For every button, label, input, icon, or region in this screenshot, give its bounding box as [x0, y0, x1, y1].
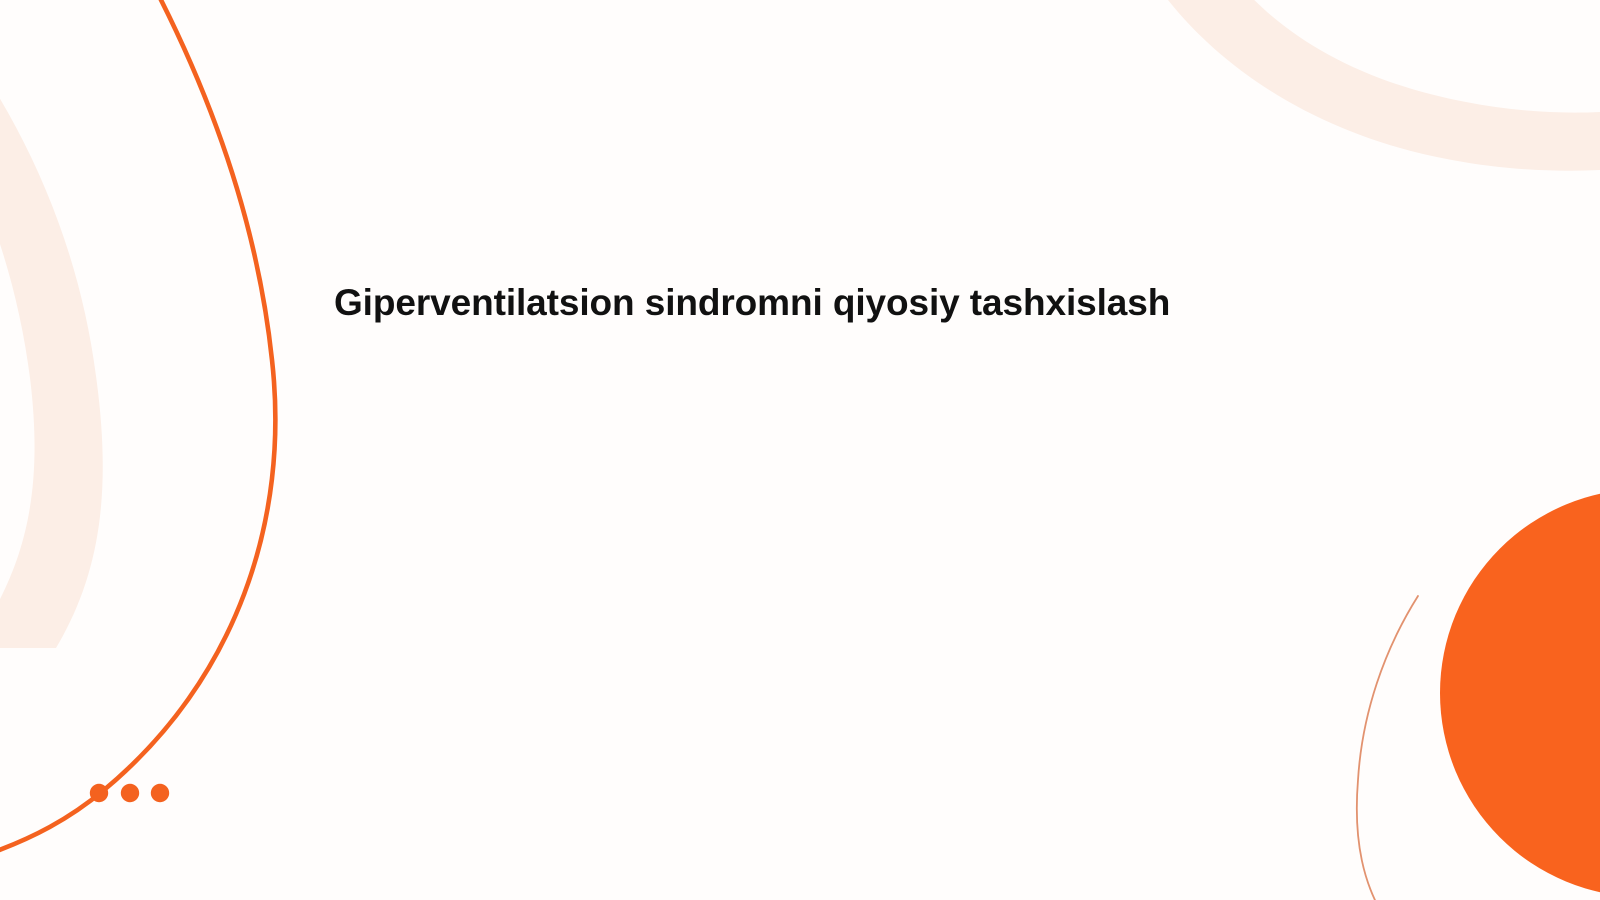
title-layer: Giperventilatsion sindromni qiyosiy tash… — [0, 0, 1600, 900]
slide-title: Giperventilatsion sindromni qiyosiy tash… — [334, 279, 1334, 327]
slide-canvas: Giperventilatsion sindromni qiyosiy tash… — [0, 0, 1600, 900]
